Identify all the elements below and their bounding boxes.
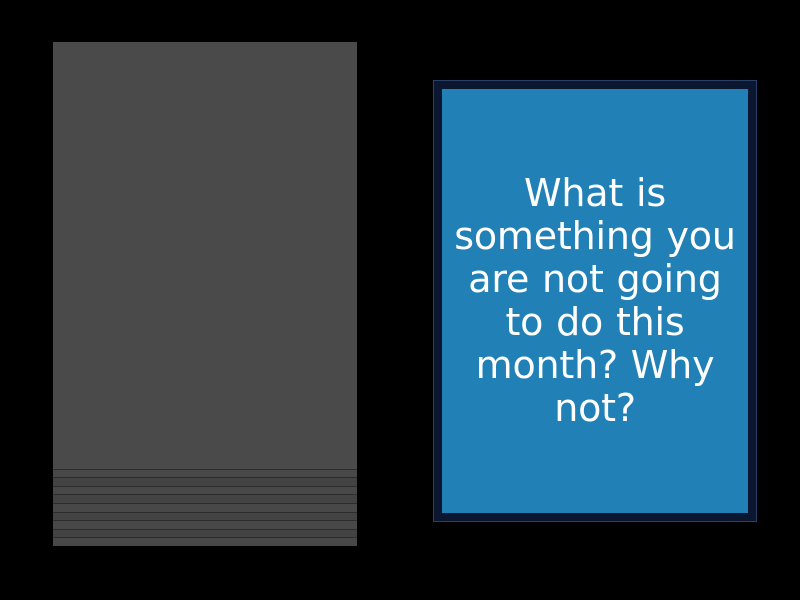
panel-blank-area [53, 42, 357, 469]
list-item[interactable] [53, 477, 357, 486]
list-item[interactable] [53, 529, 357, 538]
prompt-card-body[interactable]: What is something you are not going to d… [442, 89, 748, 513]
screen-canvas: What is something you are not going to d… [0, 0, 800, 600]
list-item[interactable] [53, 512, 357, 521]
list-item[interactable] [53, 537, 357, 546]
list-item[interactable] [53, 469, 357, 478]
list-item[interactable] [53, 494, 357, 503]
prompt-card[interactable]: What is something you are not going to d… [433, 80, 757, 522]
list-item[interactable] [53, 520, 357, 529]
list-item[interactable] [53, 486, 357, 495]
panel-row-list[interactable] [53, 469, 357, 546]
list-item[interactable] [53, 503, 357, 512]
content-placeholder-panel[interactable] [53, 42, 357, 546]
prompt-card-text: What is something you are not going to d… [448, 172, 742, 430]
